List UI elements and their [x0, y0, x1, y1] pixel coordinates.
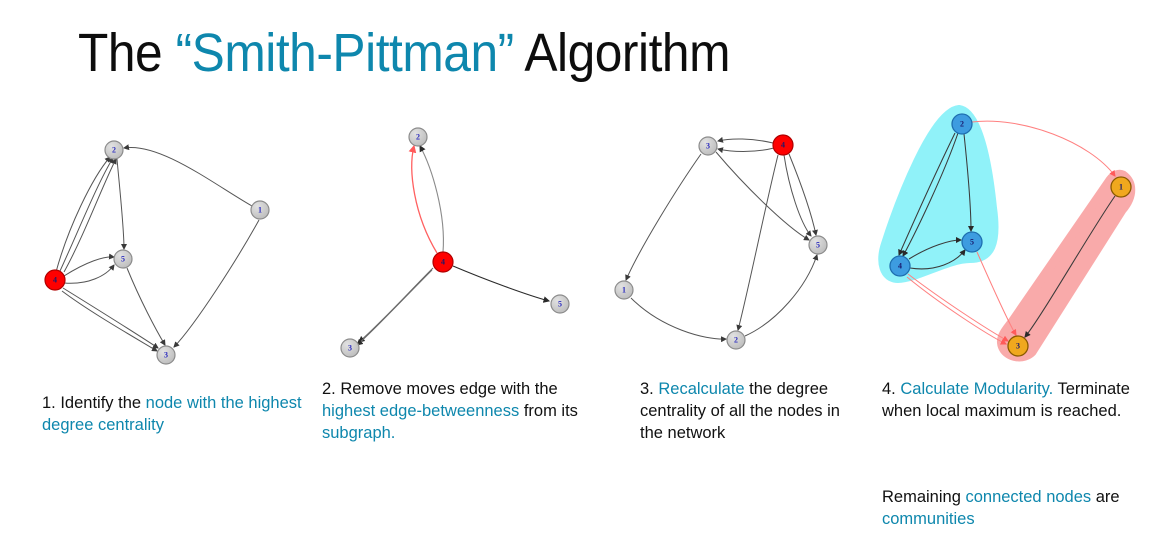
step-4-caption-segment-0: 4. — [882, 380, 900, 398]
edge-highest-betweenness — [412, 146, 437, 253]
graph-node-1[interactable]: 1 — [615, 281, 633, 299]
step-3-nodes: 3 4 5 1 2 — [615, 135, 827, 349]
title-highlight: “Smith-Pittman” — [176, 23, 514, 83]
step-2-nodes: 2 4 5 3 — [341, 128, 569, 357]
graph-node-5[interactable]: 5 — [809, 236, 827, 254]
graph-node-5[interactable]: 5 — [114, 250, 132, 268]
graph-node-4-highlighted[interactable]: 4 — [45, 270, 65, 290]
step-2-caption: 2. Remove moves edge with the highest ed… — [322, 378, 594, 444]
graph-node-2[interactable]: 2 — [952, 114, 972, 134]
step-2-caption-segment-2: from its — [519, 402, 578, 420]
step-1-caption: 1. Identify the node with the highest de… — [42, 392, 304, 436]
inter-community-edge-4-3-a — [908, 274, 1008, 341]
step-4-caption-b-segment-0: Remaining — [882, 488, 965, 506]
step-2-graph-svg: 2 4 5 3 — [308, 108, 598, 370]
step-1-graph-svg: 2 1 5 4 3 — [18, 108, 308, 370]
step-4-caption-b-segment-2: are — [1091, 488, 1119, 506]
inter-community-edge-2-1 — [972, 121, 1115, 176]
inter-community-edge-4-3-b — [907, 277, 1006, 344]
step-1-graph-panel: 2 1 5 4 3 — [18, 108, 308, 370]
step-3-graph-svg: 3 4 5 1 2 — [598, 108, 888, 370]
step-1-edges — [56, 147, 259, 351]
step-4-caption-b-segment-1: connected nodes — [965, 488, 1091, 506]
graph-node-3[interactable]: 3 — [699, 137, 717, 155]
title-part-2: Algorithm — [514, 23, 730, 83]
graph-node-2[interactable]: 2 — [409, 128, 427, 146]
graph-node-3[interactable]: 3 — [341, 339, 359, 357]
step-2-graph-panel: 2 4 5 3 — [308, 108, 598, 370]
page-title: The “Smith-Pittman” Algorithm — [78, 22, 1016, 84]
step-4-graph-panel: 2 1 5 4 3 — [872, 100, 1162, 372]
step-2-caption-segment-3: subgraph. — [322, 424, 395, 442]
graph-node-4[interactable]: 4 — [890, 256, 910, 276]
title-part-1: The — [78, 23, 176, 83]
step-4-community-hulls — [883, 110, 1130, 357]
graph-node-5[interactable]: 5 — [551, 295, 569, 313]
step-4-caption: 4. Calculate Modularity. Terminate when … — [882, 378, 1144, 422]
step-2-caption-segment-0: 2. Remove moves edge with the — [322, 380, 558, 398]
step-3-graph-panel: 3 4 5 1 2 — [598, 108, 888, 370]
slide-canvas: The “Smith-Pittman” Algorithm — [0, 0, 1172, 552]
step-1-caption-segment-0: 1. Identify the — [42, 394, 146, 412]
graph-node-4-highlighted[interactable]: 4 — [773, 135, 793, 155]
graph-node-5[interactable]: 5 — [962, 232, 982, 252]
graph-node-1[interactable]: 1 — [251, 201, 269, 219]
step-2-caption-segment-1: highest edge-betweenness — [322, 402, 519, 420]
step-2-edges — [357, 146, 549, 345]
step-3-caption: 3. Recalculate the degree centrality of … — [640, 378, 866, 444]
step-3-caption-segment-0: 3. — [640, 380, 658, 398]
step-4-graph-svg: 2 1 5 4 3 — [872, 100, 1162, 372]
step-3-caption-segment-1: Recalculate — [658, 380, 744, 398]
graph-node-2[interactable]: 2 — [105, 141, 123, 159]
graph-node-3[interactable]: 3 — [157, 346, 175, 364]
step-4-caption-segment-1: Calculate Modularity. — [900, 380, 1053, 398]
graph-node-1[interactable]: 1 — [1111, 177, 1131, 197]
step-4-caption-secondary: Remaining connected nodes are communitie… — [882, 486, 1144, 530]
graph-node-4-highlighted[interactable]: 4 — [433, 252, 453, 272]
step-3-edges — [626, 139, 817, 339]
graph-node-3[interactable]: 3 — [1008, 336, 1028, 356]
step-4-caption-b-segment-3: communities — [882, 510, 975, 528]
graph-node-2[interactable]: 2 — [727, 331, 745, 349]
